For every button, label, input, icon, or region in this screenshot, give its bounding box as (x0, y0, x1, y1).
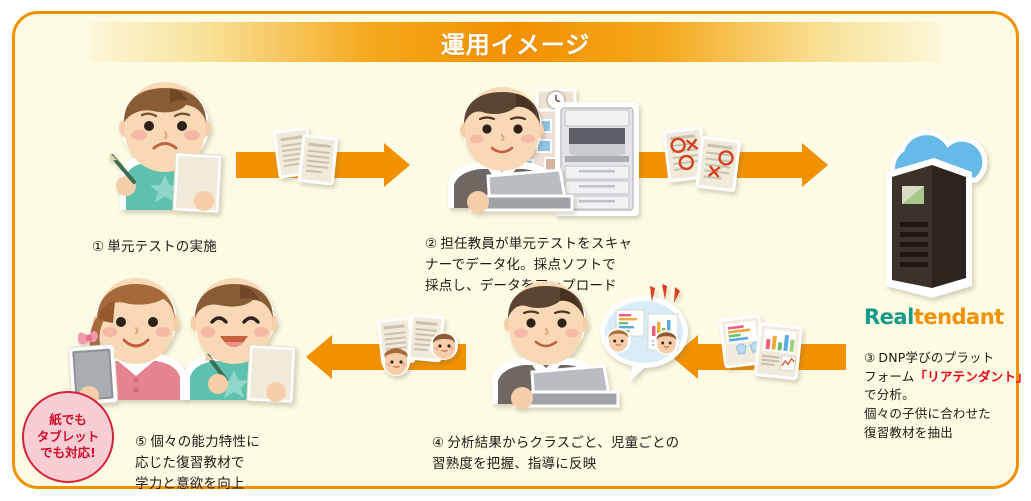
analysis-charts-icon (716, 310, 812, 392)
teacher-scanning-icon (432, 84, 572, 210)
step-3-caption: ③DNP学びのプラット フォーム「リアテンダント」で分析。 個々の子供に合わせた… (864, 330, 1031, 443)
title-band: 運用イメージ (90, 22, 941, 62)
logo-part-teal: Real (864, 305, 914, 329)
step-1-text: 単元テストの実施 (107, 239, 217, 255)
badge-line-1: 紙でも (49, 412, 87, 429)
badge-line-2: タブレット (37, 429, 100, 446)
logo-part-orange: tendant (914, 305, 1004, 329)
page-title: 運用イメージ (441, 25, 591, 60)
realtendant-logo: Realtendant (864, 305, 1004, 329)
step-1-caption: ①単元テストの実施 (92, 216, 217, 258)
step-3-text-highlight: 「リアテンダント」 (914, 369, 1028, 384)
boy-face-icon (430, 332, 458, 360)
girl-face-icon (382, 348, 410, 376)
status-badge: 紙でも タブレット でも対応! (22, 391, 114, 483)
step-5-caption: ⑤個々の能力特性に 応じた復習教材で 学力と意欲を向上 (135, 411, 260, 495)
step-4-text: 分析結果からクラスごと、児童ごとの 習熟度を把握、指導に反映 (432, 435, 679, 472)
boy-taking-test-icon (90, 82, 240, 212)
boy-with-worksheet-icon (160, 280, 300, 402)
step-5-number: ⑤ (135, 434, 147, 450)
step-3-text-after: で分析。 個々の子供に合わせた 復習教材を抽出 (864, 387, 991, 440)
worksheets-with-children-icon (370, 312, 470, 392)
badge-line-3: でも対応! (40, 445, 96, 462)
cloud-server-icon (862, 128, 1002, 300)
test-papers-icon (268, 120, 346, 198)
step-2-number: ② (425, 236, 437, 252)
teacher-analysis-icon (476, 278, 618, 406)
step-4-number: ④ (432, 435, 444, 451)
server-tower-shape (886, 158, 972, 298)
step-3-number: ③ (864, 350, 875, 365)
step-1-number: ① (92, 239, 104, 255)
graded-papers-icon (658, 122, 748, 202)
diagram-canvas: 運用イメージ (0, 0, 1031, 501)
step-5-text: 個々の能力特性に 応じた復習教材で 学力と意欲を向上 (135, 434, 260, 492)
step-4-caption: ④分析結果からクラスごと、児童ごとの 習熟度を把握、指導に反映 (432, 412, 679, 475)
